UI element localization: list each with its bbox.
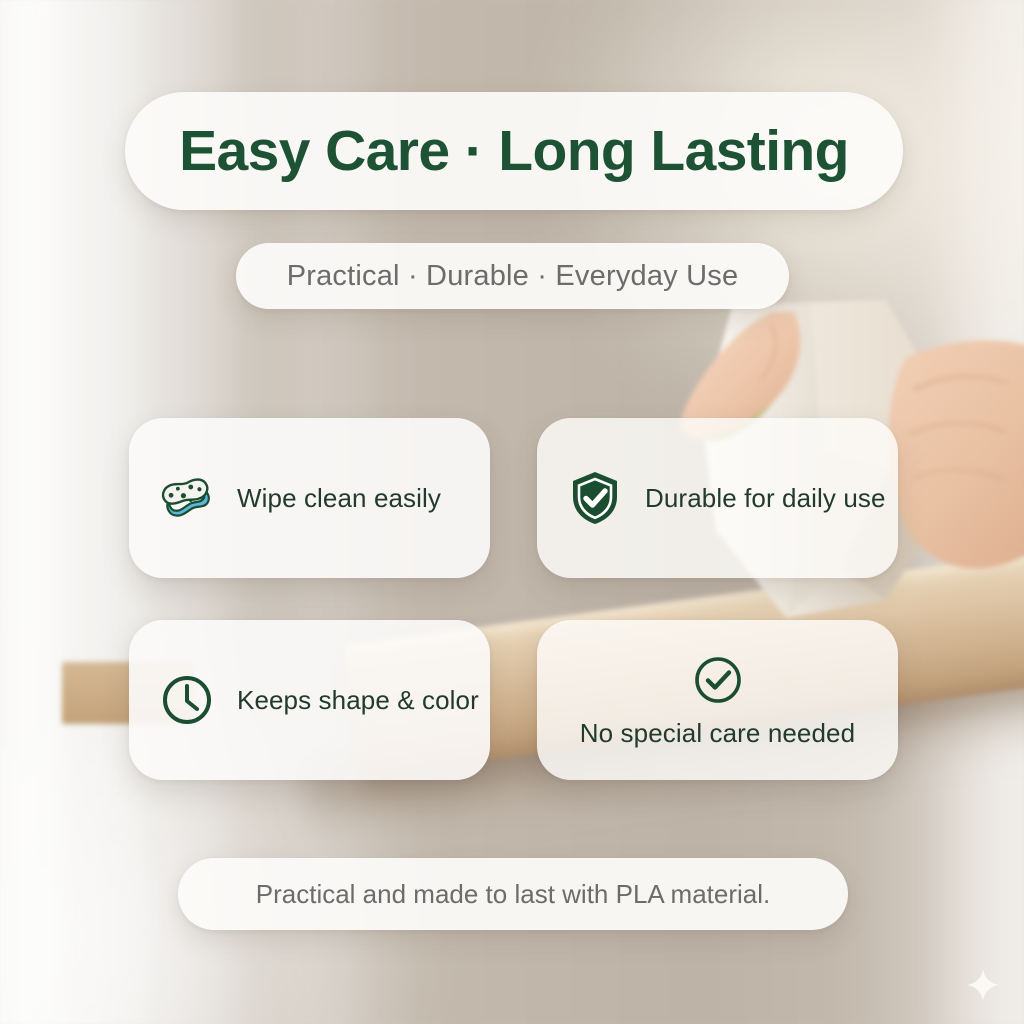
feature-card-grid: Wipe clean easily Durable for daily use — [129, 418, 898, 780]
title-pill: Easy Care · Long Lasting — [125, 92, 903, 210]
footer-pill: Practical and made to last with PLA mate… — [178, 858, 848, 930]
feature-card-wipe-clean[interactable]: Wipe clean easily — [129, 418, 490, 578]
page-subtitle: Practical · Durable · Everyday Use — [287, 260, 739, 293]
feature-card-keeps-shape[interactable]: Keeps shape & color — [129, 620, 490, 780]
sponge-icon — [159, 470, 215, 526]
sparkle-icon — [966, 968, 1000, 1002]
clock-icon — [159, 672, 215, 728]
page-title: Easy Care · Long Lasting — [179, 123, 849, 180]
check-circle-icon — [690, 652, 746, 708]
feature-label: Keeps shape & color — [237, 685, 479, 716]
feature-card-durable[interactable]: Durable for daily use — [537, 418, 898, 578]
subtitle-pill: Practical · Durable · Everyday Use — [236, 243, 789, 309]
shield-check-icon — [567, 470, 623, 526]
infographic-canvas: Easy Care · Long Lasting Practical · Dur… — [0, 0, 1024, 1024]
footer-note: Practical and made to last with PLA mate… — [256, 879, 770, 910]
overlay-content: Easy Care · Long Lasting Practical · Dur… — [0, 0, 1024, 1024]
feature-card-no-special-care[interactable]: No special care needed — [537, 620, 898, 780]
feature-label: No special care needed — [580, 718, 855, 749]
feature-label: Wipe clean easily — [237, 483, 441, 514]
feature-label: Durable for daily use — [645, 483, 886, 514]
